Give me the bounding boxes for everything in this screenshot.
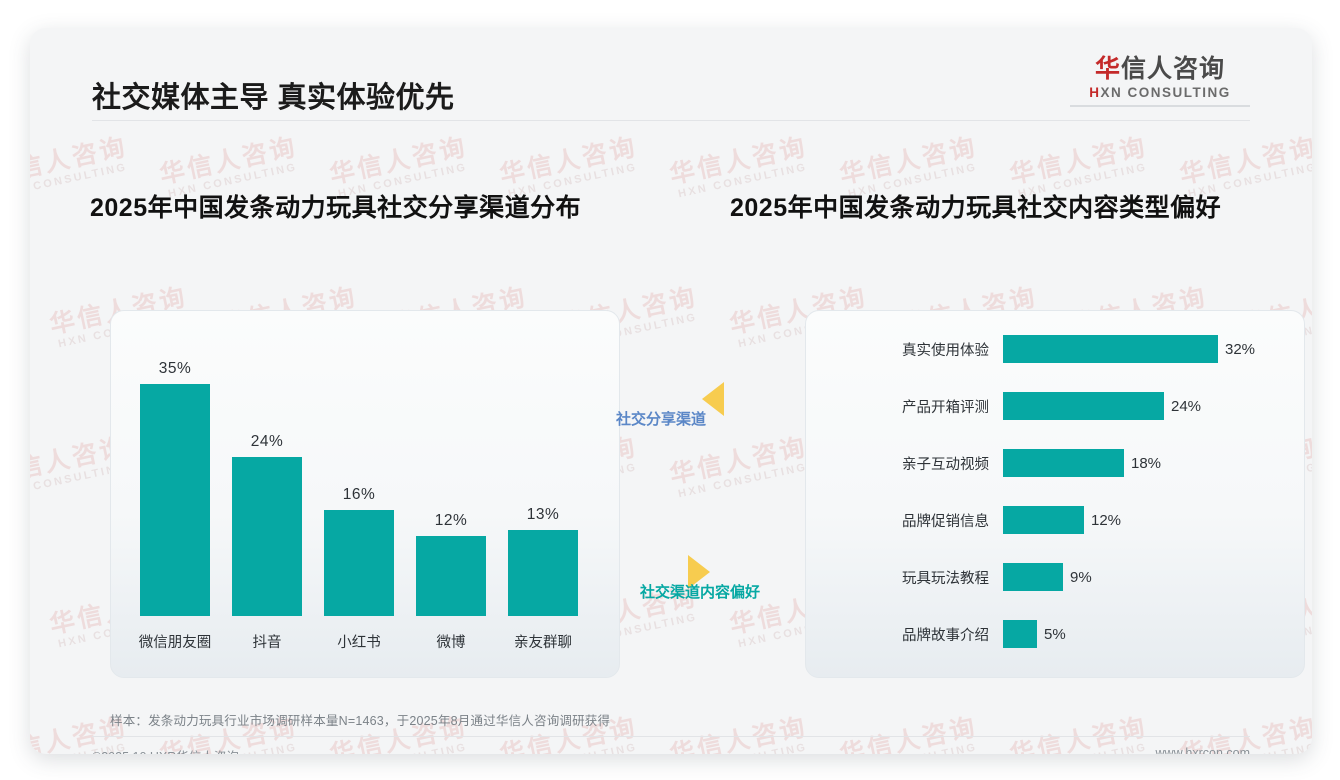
vertical-bar-group: 16% bbox=[322, 484, 396, 616]
bar-rect bbox=[1003, 335, 1218, 363]
bar-rect bbox=[1003, 506, 1084, 534]
bar-category-label: 产品开箱评测 bbox=[805, 396, 1003, 417]
bar-rect bbox=[1003, 563, 1063, 591]
vertical-bar-group: 13% bbox=[506, 504, 580, 616]
left-chart-title: 2025年中国发条动力玩具社交分享渠道分布 bbox=[90, 188, 581, 224]
vertical-bar-group: 12% bbox=[414, 510, 488, 616]
bar-category-label: 玩具玩法教程 bbox=[805, 567, 1003, 588]
horizontal-bar-row: 品牌促销信息12% bbox=[805, 503, 1305, 537]
right-chart-title: 2025年中国发条动力玩具社交内容类型偏好 bbox=[730, 188, 1221, 224]
slide-header: 社交媒体主导 真实体验优先 华信人咨询 HXN CONSULTING bbox=[30, 28, 1312, 122]
horizontal-bar-chart: 真实使用体验32%产品开箱评测24%亲子互动视频18%品牌促销信息12%玩具玩法… bbox=[805, 310, 1305, 678]
horizontal-bar-row: 产品开箱评测24% bbox=[805, 389, 1305, 423]
middle-connector: 社交分享渠道 社交渠道内容偏好 bbox=[620, 310, 810, 678]
bar-value-label: 32% bbox=[1225, 341, 1255, 358]
bar-value-label: 18% bbox=[1131, 455, 1161, 472]
bar-value-label: 35% bbox=[138, 360, 212, 378]
vertical-bar-group: 24% bbox=[230, 431, 304, 616]
bar-category-label: 真实使用体验 bbox=[805, 339, 1003, 360]
watermark-text: 华信人咨询HXN CONSULTING bbox=[667, 714, 812, 754]
bar-rect bbox=[140, 384, 210, 616]
page-title: 社交媒体主导 真实体验优先 bbox=[92, 74, 455, 116]
footer-divider bbox=[92, 736, 1250, 737]
bar-value-label: 13% bbox=[506, 506, 580, 524]
logo-english-text: HXN CONSULTING bbox=[1070, 85, 1250, 100]
bar-category-label: 品牌故事介绍 bbox=[805, 624, 1003, 645]
bar-rect bbox=[1003, 392, 1164, 420]
company-logo: 华信人咨询 HXN CONSULTING bbox=[1070, 56, 1250, 107]
bar-value-label: 16% bbox=[322, 486, 396, 504]
copyright-text: ©2025.10 HXR华信人咨询 bbox=[92, 746, 239, 754]
bar-category-label: 亲子互动视频 bbox=[805, 453, 1003, 474]
horizontal-bar-row: 亲子互动视频18% bbox=[805, 446, 1305, 480]
logo-cn-accent: 华 bbox=[1095, 55, 1121, 83]
bar-value-label: 12% bbox=[414, 512, 488, 530]
logo-underline bbox=[1070, 105, 1250, 107]
website-url: www.hxrcon.com bbox=[1156, 746, 1250, 754]
logo-chinese-text: 华信人咨询 bbox=[1070, 56, 1250, 84]
horizontal-bar-row: 玩具玩法教程9% bbox=[805, 560, 1305, 594]
logo-en-rest: XN CONSULTING bbox=[1101, 85, 1231, 100]
slide-canvas: 华信人咨询HXN CONSULTING华信人咨询HXN CONSULTING华信… bbox=[30, 28, 1312, 754]
watermark-text: 华信人咨询HXN CONSULTING bbox=[1007, 714, 1152, 754]
bar-rect bbox=[1003, 620, 1037, 648]
bar-category-label: 亲友群聊 bbox=[489, 631, 597, 652]
horizontal-bar-row: 真实使用体验32% bbox=[805, 332, 1305, 366]
sample-note: 样本：发条动力玩具行业市场调研样本量N=1463，于2025年8月通过华信人咨询… bbox=[110, 710, 610, 729]
vertical-bar-chart: 35%微信朋友圈24%抖音16%小红书12%微博13%亲友群聊 bbox=[110, 310, 620, 678]
connector-label-content-preference: 社交渠道内容偏好 bbox=[640, 581, 760, 602]
horizontal-bar-row: 品牌故事介绍5% bbox=[805, 617, 1305, 651]
bar-category-label: 品牌促销信息 bbox=[805, 510, 1003, 531]
logo-en-accent: H bbox=[1089, 85, 1100, 100]
bar-rect bbox=[232, 457, 302, 616]
vertical-bar-group: 35% bbox=[138, 358, 212, 616]
bar-value-label: 12% bbox=[1091, 512, 1121, 529]
bar-rect bbox=[1003, 449, 1124, 477]
bar-value-label: 24% bbox=[1171, 398, 1201, 415]
bar-rect bbox=[508, 530, 578, 616]
header-divider bbox=[92, 120, 1250, 121]
watermark-text: 华信人咨询HXN CONSULTING bbox=[837, 714, 982, 754]
connector-label-share-channel: 社交分享渠道 bbox=[616, 408, 706, 429]
logo-cn-rest: 信人咨询 bbox=[1121, 55, 1225, 83]
bar-value-label: 5% bbox=[1044, 626, 1066, 643]
bar-value-label: 24% bbox=[230, 433, 304, 451]
bar-rect bbox=[324, 510, 394, 616]
bar-value-label: 9% bbox=[1070, 569, 1092, 586]
bar-rect bbox=[416, 536, 486, 616]
